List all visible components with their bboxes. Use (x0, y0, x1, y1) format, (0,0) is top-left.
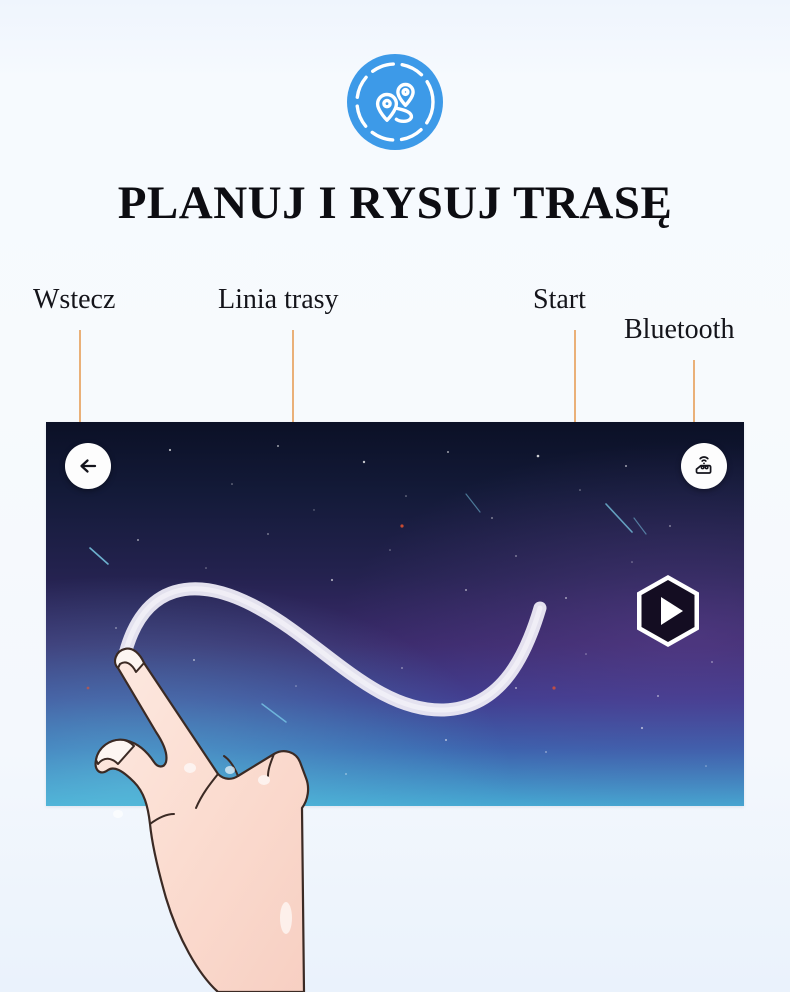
callout-label-start: Start (533, 284, 586, 316)
hexagon-start-shape (633, 573, 703, 649)
back-button[interactable] (65, 443, 111, 489)
map-pins-circle-icon (345, 52, 445, 152)
callout-label-wstecz: Wstecz (33, 284, 115, 316)
page-title: PLANUJ I RYSUJ TRASĘ (0, 176, 790, 230)
app-logo (0, 52, 790, 152)
bluetooth-button[interactable] (681, 443, 727, 489)
device-screen (46, 422, 744, 806)
callout-label-bluetooth: Bluetooth (624, 314, 734, 346)
page-root: PLANUJ I RYSUJ TRASĘ Wstecz Linia trasy … (0, 0, 790, 992)
arrow-left-icon (76, 454, 100, 478)
start-button[interactable] (633, 573, 703, 649)
bluetooth-device-signal-icon (690, 452, 718, 480)
callout-label-linia-trasy: Linia trasy (218, 284, 339, 316)
